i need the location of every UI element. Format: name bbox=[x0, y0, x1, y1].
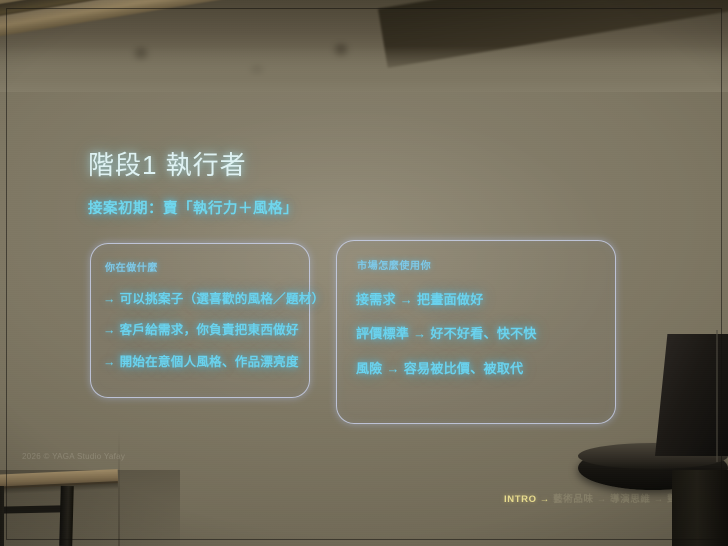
card-how-market-uses-you: 市場怎麼使用你 接需求 → 把畫面做好 評價標準 → 好不好看、快不快 風險 →… bbox=[336, 240, 616, 424]
round-side-table-base bbox=[672, 470, 728, 546]
photo-scene: 階段1 執行者 接案初期：賣「執行力＋風格」 你在做什麼 → 可以挑案子（選喜歡… bbox=[0, 0, 728, 546]
card-what-you-do: 你在做什麼 → 可以挑案子（選喜歡的風格／題材） → 客戶給需求，你負責把東西做… bbox=[90, 243, 310, 398]
desk-leg-right bbox=[59, 486, 74, 546]
desk-leg-left bbox=[0, 486, 4, 546]
card-item: → 客戶給需求，你負責把東西做好 bbox=[103, 319, 299, 338]
card-item: → 可以挑案子（選喜歡的風格／題材） bbox=[103, 288, 324, 307]
slide-watermark: 2026 © YAGA Studio Yafay bbox=[22, 452, 125, 461]
card-item: → 開始在意個人風格、作品漂亮度 bbox=[103, 351, 299, 370]
footer-active-step: INTRO → bbox=[504, 494, 550, 505]
card-label-what-you-do: 你在做什麼 bbox=[105, 259, 158, 274]
card-item: 風險 → 容易被比價、被取代 bbox=[356, 358, 523, 377]
card-item: 接需求 → 把畫面做好 bbox=[356, 289, 484, 308]
card-label-how-market-uses-you: 市場怎麼使用你 bbox=[357, 257, 431, 272]
card-item: 評價標準 → 好不好看、快不快 bbox=[356, 323, 537, 342]
laptop-edge-highlight bbox=[716, 330, 718, 462]
